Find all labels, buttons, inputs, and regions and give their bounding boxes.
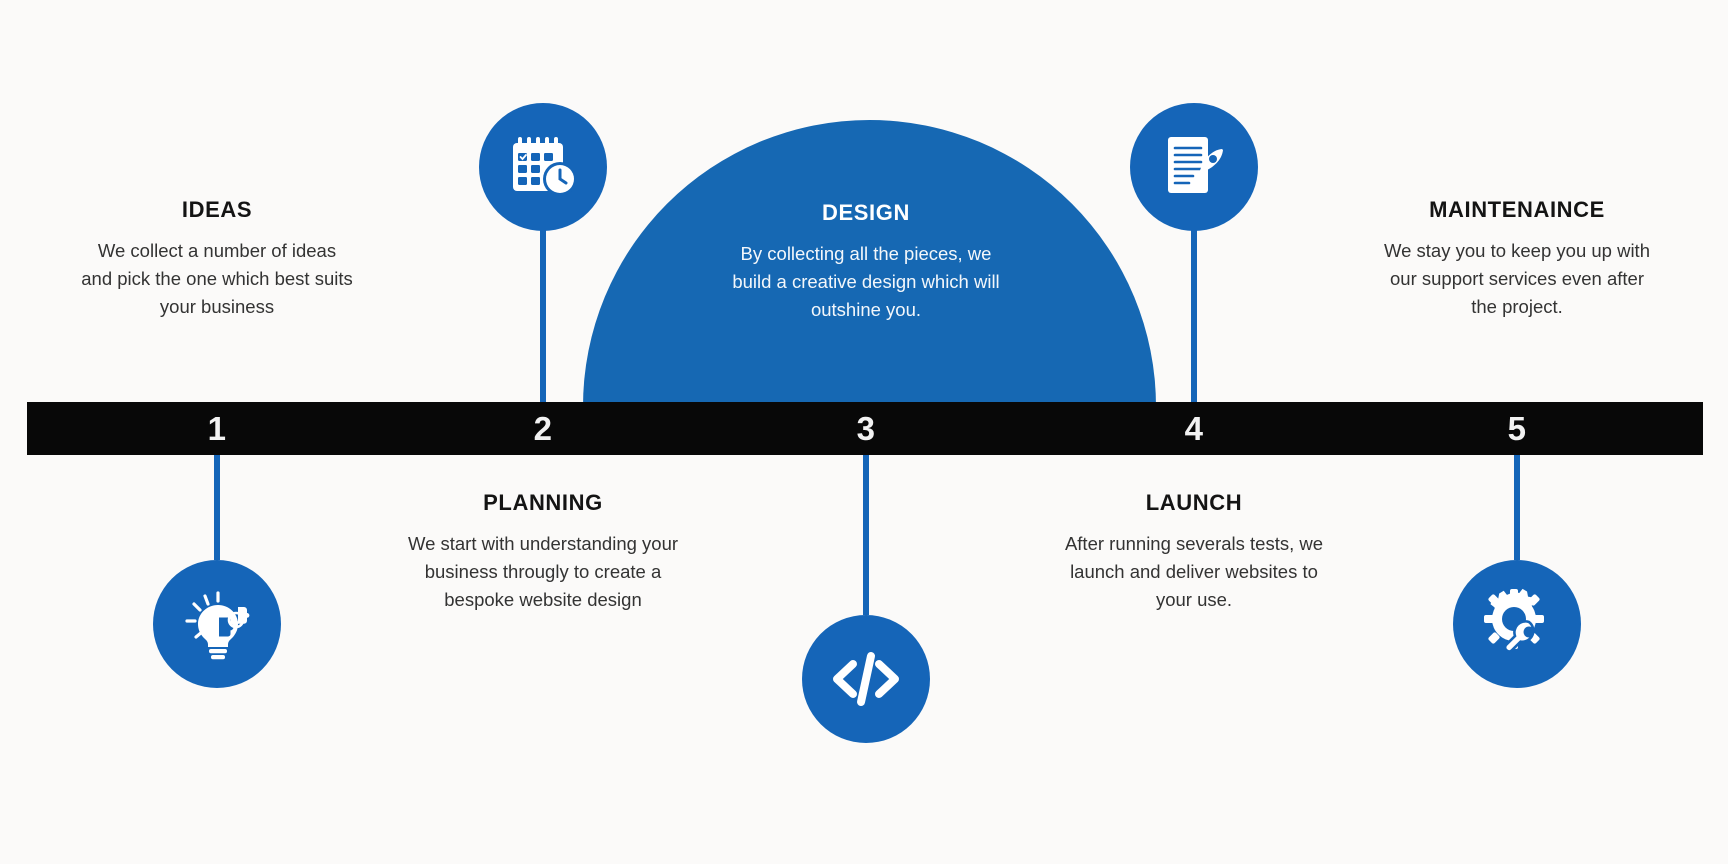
step-description-line: We stay you to keep you up with [1357, 237, 1677, 265]
step-heading-5: MAINTENAINCE [1357, 197, 1677, 223]
step-description-1: We collect a number of ideas and pick th… [57, 237, 377, 321]
step-description-line: We start with understanding your [383, 530, 703, 558]
step-description-line: By collecting all the pieces, we [706, 240, 1026, 268]
timeline-number-4[interactable]: 4 [1154, 402, 1234, 455]
step-description-line: your business [57, 293, 377, 321]
icon-circle-step-3[interactable] [802, 615, 930, 743]
infographic-canvas: IDEAS We collect a number of ideas and p… [0, 0, 1728, 864]
icon-circle-step-5[interactable] [1453, 560, 1581, 688]
step-description-line: business througly to create a [383, 558, 703, 586]
step-description-4: After running severals tests, we launch … [1034, 530, 1354, 614]
icon-circle-step-1[interactable] [153, 560, 281, 688]
lightbulb-puzzle-icon [178, 585, 256, 663]
step-heading-4: LAUNCH [1034, 490, 1354, 516]
step-block-1: IDEAS We collect a number of ideas and p… [57, 197, 377, 321]
code-brackets-icon [829, 642, 903, 716]
step-block-5: MAINTENAINCE We stay you to keep you up … [1357, 197, 1677, 321]
step-description-line: and pick the one which best suits [57, 265, 377, 293]
step-description-line: launch and deliver websites to [1034, 558, 1354, 586]
step-block-2: PLANNING We start with understanding you… [383, 490, 703, 614]
timeline-number-5[interactable]: 5 [1477, 402, 1557, 455]
step-description-line: your use. [1034, 586, 1354, 614]
icon-circle-step-2[interactable] [479, 103, 607, 231]
timeline-bar: 1 2 3 4 5 [27, 402, 1703, 455]
step-heading-2: PLANNING [383, 490, 703, 516]
step-description-line: the project. [1357, 293, 1677, 321]
step-description-line: outshine you. [706, 296, 1026, 324]
step-block-4: LAUNCH After running severals tests, we … [1034, 490, 1354, 614]
step-description-line: build a creative design which will [706, 268, 1026, 296]
step-description-5: We stay you to keep you up with our supp… [1357, 237, 1677, 321]
stem-step-1 [214, 455, 220, 560]
timeline-number-1[interactable]: 1 [177, 402, 257, 455]
step-description-line: bespoke website design [383, 586, 703, 614]
step-description-3: By collecting all the pieces, we build a… [706, 240, 1026, 324]
stem-step-5 [1514, 455, 1520, 560]
icon-circle-step-4[interactable] [1130, 103, 1258, 231]
step-description-line: our support services even after [1357, 265, 1677, 293]
calendar-clock-icon [505, 129, 581, 205]
timeline-number-3[interactable]: 3 [826, 402, 906, 455]
stem-step-3 [863, 455, 869, 615]
step-heading-3: DESIGN [706, 200, 1026, 226]
step-description-2: We start with understanding your busines… [383, 530, 703, 614]
step-block-3: DESIGN By collecting all the pieces, we … [706, 200, 1026, 324]
step-heading-1: IDEAS [57, 197, 377, 223]
step-description-line: After running severals tests, we [1034, 530, 1354, 558]
step-description-line: We collect a number of ideas [57, 237, 377, 265]
timeline-number-2[interactable]: 2 [503, 402, 583, 455]
gear-wrench-icon [1477, 584, 1557, 664]
document-rocket-icon [1156, 129, 1232, 205]
